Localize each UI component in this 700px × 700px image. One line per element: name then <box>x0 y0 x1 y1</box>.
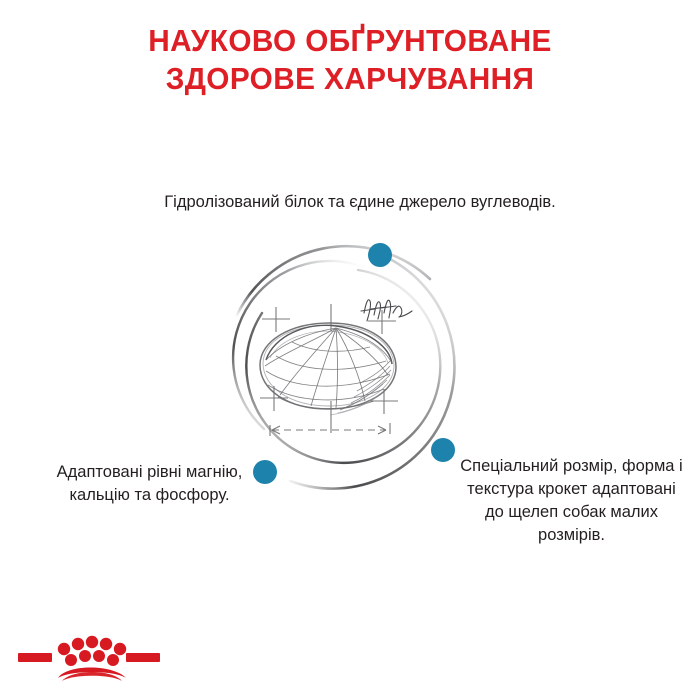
crown-dots-bottom <box>65 650 119 666</box>
node-dot-protein[interactable] <box>368 243 392 267</box>
page-title: НАУКОВО ОБҐРУНТОВАНЕ ЗДОРОВЕ ХАРЧУВАННЯ <box>14 22 686 98</box>
logo-bar-left <box>18 653 52 662</box>
kibble-diagram-svg <box>218 233 482 497</box>
callout-text-kibble-size: Спеціальний розмір, форма і текстура кро… <box>459 455 684 547</box>
registration-marks <box>260 304 398 436</box>
inner-ring <box>233 261 440 463</box>
infographic-page: НАУКОВО ОБҐРУНТОВАНЕ ЗДОРОВЕ ХАРЧУВАННЯ … <box>0 0 700 700</box>
signature-scribble <box>361 300 412 321</box>
royal-canin-logo <box>18 634 160 690</box>
callout-text-protein: Гідролізований білок та єдине джерело ву… <box>150 191 570 214</box>
node-dot-minerals[interactable] <box>253 460 277 484</box>
royal-canin-logo-svg <box>18 634 160 690</box>
node-dot-kibble-size[interactable] <box>431 438 455 462</box>
kibble-diagram <box>218 233 482 497</box>
page-title-line-2: ЗДОРОВЕ ХАРЧУВАННЯ <box>14 60 686 98</box>
crown-dots-top <box>58 636 126 655</box>
page-title-line-1: НАУКОВО ОБҐРУНТОВАНЕ <box>14 22 686 60</box>
logo-bar-right <box>126 653 160 662</box>
